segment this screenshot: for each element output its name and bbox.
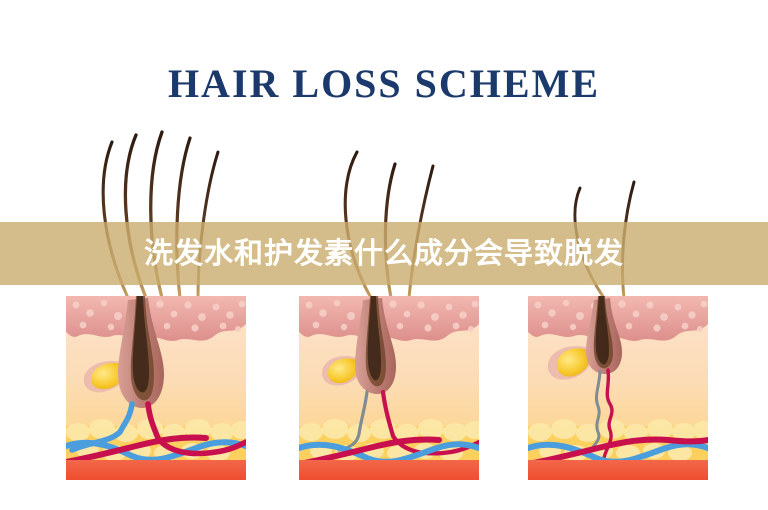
skin-cross-section-2 <box>299 296 479 480</box>
watermark-banner: 洗发水和护发素什么成分会导致脱发 <box>0 222 768 285</box>
muscle-layer <box>66 460 246 480</box>
image-canvas: HAIR LOSS SCHEME <box>0 0 768 510</box>
banner-text: 洗发水和护发素什么成分会导致脱发 <box>144 239 624 268</box>
muscle-layer <box>299 460 479 480</box>
skin-cross-section-1 <box>66 296 246 480</box>
diagram-panel-healthy <box>66 130 246 480</box>
diagram-panel-atrophy <box>528 130 708 480</box>
muscle-layer <box>528 460 708 480</box>
diagram-panel-thinning <box>299 130 479 480</box>
skin-cross-section-3 <box>528 296 708 480</box>
